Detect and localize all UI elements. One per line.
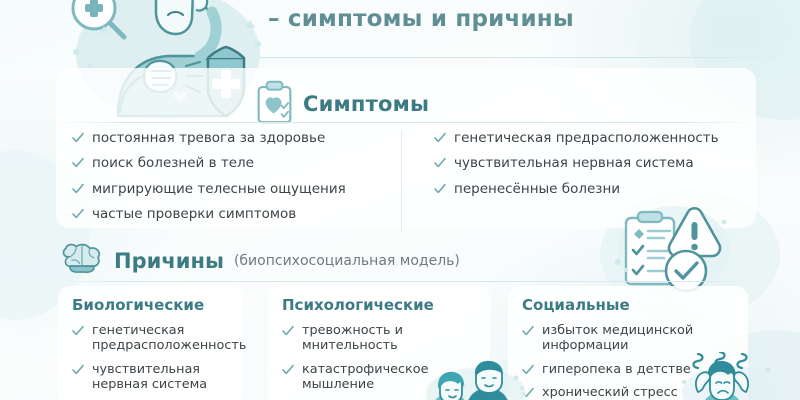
- list-item-label: хронический стресс: [542, 385, 678, 400]
- clipboard-checklist-illustration: [612, 198, 732, 298]
- symptoms-divider: [56, 122, 756, 123]
- list-item-label: тревожность и мнительность: [302, 323, 478, 354]
- list-item: тревожность и мнительность: [282, 323, 478, 354]
- check-icon: [434, 183, 446, 195]
- list-item-label: чувствительная нервная система: [92, 362, 231, 393]
- symptoms-title: Симптомы: [303, 92, 429, 116]
- clipboard-heart-icon: [256, 80, 293, 128]
- list-item: генетическая предрасположенность: [434, 130, 756, 146]
- list-item-label: генетическая предрасположенность: [92, 323, 246, 354]
- list-item: частые проверки симптомов: [72, 206, 401, 222]
- list-item: чувствительная нервная система: [434, 155, 756, 171]
- list-item: генетическая предрасположенность: [72, 323, 231, 354]
- list-item: чувствительная нервная система: [72, 362, 231, 393]
- list-item-label: перенесённые болезни: [454, 181, 620, 197]
- list-item-label: избыток медицинской информации: [542, 323, 736, 354]
- brain-icon: [60, 243, 104, 278]
- cause-card-title: Биологические: [72, 296, 231, 314]
- causes-subtitle: (биопсихосоциальная модель): [234, 253, 460, 269]
- list-item-label: мигрирующие телесные ощущения: [92, 181, 346, 197]
- list-item-label: поиск болезней в теле: [92, 155, 254, 171]
- check-icon: [72, 325, 84, 337]
- list-item: поиск болезней в теле: [72, 155, 401, 171]
- list-item-label: постоянная тревога за здоровье: [92, 130, 325, 146]
- check-icon: [72, 364, 84, 376]
- list-item-label: чувствительная нервная система: [454, 155, 694, 171]
- symptoms-header: Симптомы: [256, 80, 429, 128]
- list-item-label: генетическая предрасположенность: [454, 130, 719, 146]
- check-icon: [72, 157, 84, 169]
- cause-list: генетическая предрасположенность чувстви…: [72, 323, 231, 392]
- list-item: постоянная тревога за здоровье: [72, 130, 401, 146]
- cause-card-biological: Биологические генетическая предрасположе…: [58, 286, 243, 400]
- check-icon: [434, 132, 446, 144]
- check-icon: [522, 325, 534, 337]
- causes-divider: [58, 281, 748, 282]
- check-icon: [72, 208, 84, 220]
- symptoms-left-list: постоянная тревога за здоровье поиск бол…: [72, 130, 401, 223]
- couple-illustration: [418, 360, 528, 400]
- cause-card-title: Социальные: [522, 296, 736, 314]
- symptoms-left-column: постоянная тревога за здоровье поиск бол…: [56, 130, 401, 232]
- check-icon: [434, 157, 446, 169]
- list-item: перенесённые болезни: [434, 181, 756, 197]
- list-item: мигрирующие телесные ощущения: [72, 181, 401, 197]
- list-item: избыток медицинской информации: [522, 323, 736, 354]
- check-icon: [282, 364, 294, 376]
- causes-title: Причины: [114, 249, 224, 273]
- list-item-label: частые проверки симптомов: [92, 206, 296, 222]
- infographic-poster: – симптомы и причины: [0, 0, 800, 400]
- symptoms-right-list: генетическая предрасположенность чувстви…: [434, 130, 756, 197]
- causes-header: Причины (биопсихосоциальная модель): [60, 243, 460, 278]
- page-title: – симптомы и причины: [268, 6, 574, 32]
- check-icon: [72, 183, 84, 195]
- check-icon: [72, 132, 84, 144]
- check-icon: [282, 325, 294, 337]
- cause-card-title: Психологические: [282, 296, 478, 314]
- stressed-woman-illustration: [676, 352, 780, 400]
- list-item-label: гиперопека в детстве: [542, 362, 691, 377]
